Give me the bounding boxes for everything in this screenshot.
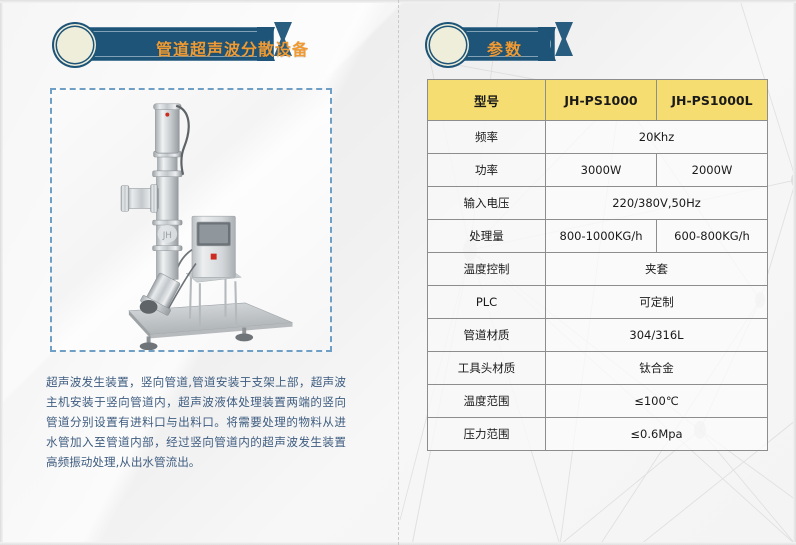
spec-table-row: 处理量800-1000KG/h600-800KG/h <box>428 220 768 253</box>
spec-row-label-1: 功率 <box>428 154 546 187</box>
spec-row-value-8: ≤100℃ <box>546 385 768 418</box>
spec-row-value-7: 钛合金 <box>546 352 768 385</box>
spec-table-header-cell-2: JH-PS1000L <box>657 80 768 121</box>
spec-row-value-b-3: 600-800KG/h <box>657 220 768 253</box>
spec-table-row: 温度范围≤100℃ <box>428 385 768 418</box>
left-banner-medallion-icon <box>52 22 98 68</box>
svg-text:JH: JH <box>162 231 172 241</box>
right-section-banner: 参数 <box>425 22 645 68</box>
spec-row-label-9: 压力范围 <box>428 418 546 451</box>
spec-table-row: 温度控制夹套 <box>428 253 768 286</box>
right-banner-medallion-inner <box>430 27 466 63</box>
specification-table: 型号JH-PS1000JH-PS1000L频率20Khz功率3000W2000W… <box>427 79 768 451</box>
spec-row-value-a-1: 3000W <box>546 154 657 187</box>
spec-row-label-4: 温度控制 <box>428 253 546 286</box>
product-image-frame: JH <box>50 88 332 352</box>
spec-table-row: 输入电压220/380V,50Hz <box>428 187 768 220</box>
product-description: 超声波发生装置，竖向管道,管道安装于支架上部，超声波主机安装于竖向管道内，超声波… <box>46 372 346 472</box>
right-banner-ribbon-notch <box>555 22 573 56</box>
spec-row-label-0: 频率 <box>428 121 546 154</box>
spec-table-row: 频率20Khz <box>428 121 768 154</box>
spec-table-header-cell-1: JH-PS1000 <box>546 80 657 121</box>
spec-row-label-5: PLC <box>428 286 546 319</box>
spec-row-label-8: 温度范围 <box>428 385 546 418</box>
page-edge-left <box>0 0 3 545</box>
spec-row-label-2: 输入电压 <box>428 187 546 220</box>
spec-table-row: PLC可定制 <box>428 286 768 319</box>
spec-row-value-0: 20Khz <box>546 121 768 154</box>
spec-row-label-6: 管道材质 <box>428 319 546 352</box>
brochure-page: 管道超声波分散设备 <box>0 0 796 545</box>
spec-row-value-6: 304/316L <box>546 319 768 352</box>
product-photo: JH <box>52 90 330 350</box>
spec-table-row: 功率3000W2000W <box>428 154 768 187</box>
left-section-banner: 管道超声波分散设备 <box>52 22 352 68</box>
spec-table-row: 工具头材质钛合金 <box>428 352 768 385</box>
spec-table-row: 管道材质304/316L <box>428 319 768 352</box>
spec-row-value-4: 夹套 <box>546 253 768 286</box>
right-banner-medallion-icon <box>425 22 471 68</box>
spec-table-header-cell-0: 型号 <box>428 80 546 121</box>
left-banner-medallion-inner <box>57 27 93 63</box>
spec-row-label-7: 工具头材质 <box>428 352 546 385</box>
spec-row-value-b-1: 2000W <box>657 154 768 187</box>
spec-row-value-9: ≤0.6Mpa <box>546 418 768 451</box>
spec-row-value-5: 可定制 <box>546 286 768 319</box>
right-section-title: 参数 <box>487 36 523 60</box>
spec-row-value-2: 220/380V,50Hz <box>546 187 768 220</box>
spec-table-row: 压力范围≤0.6Mpa <box>428 418 768 451</box>
spec-row-value-a-3: 800-1000KG/h <box>546 220 657 253</box>
spec-table-header-row: 型号JH-PS1000JH-PS1000L <box>428 80 768 121</box>
left-section-title: 管道超声波分散设备 <box>156 36 309 60</box>
spec-row-label-3: 处理量 <box>428 220 546 253</box>
page-fold-line <box>398 0 399 545</box>
